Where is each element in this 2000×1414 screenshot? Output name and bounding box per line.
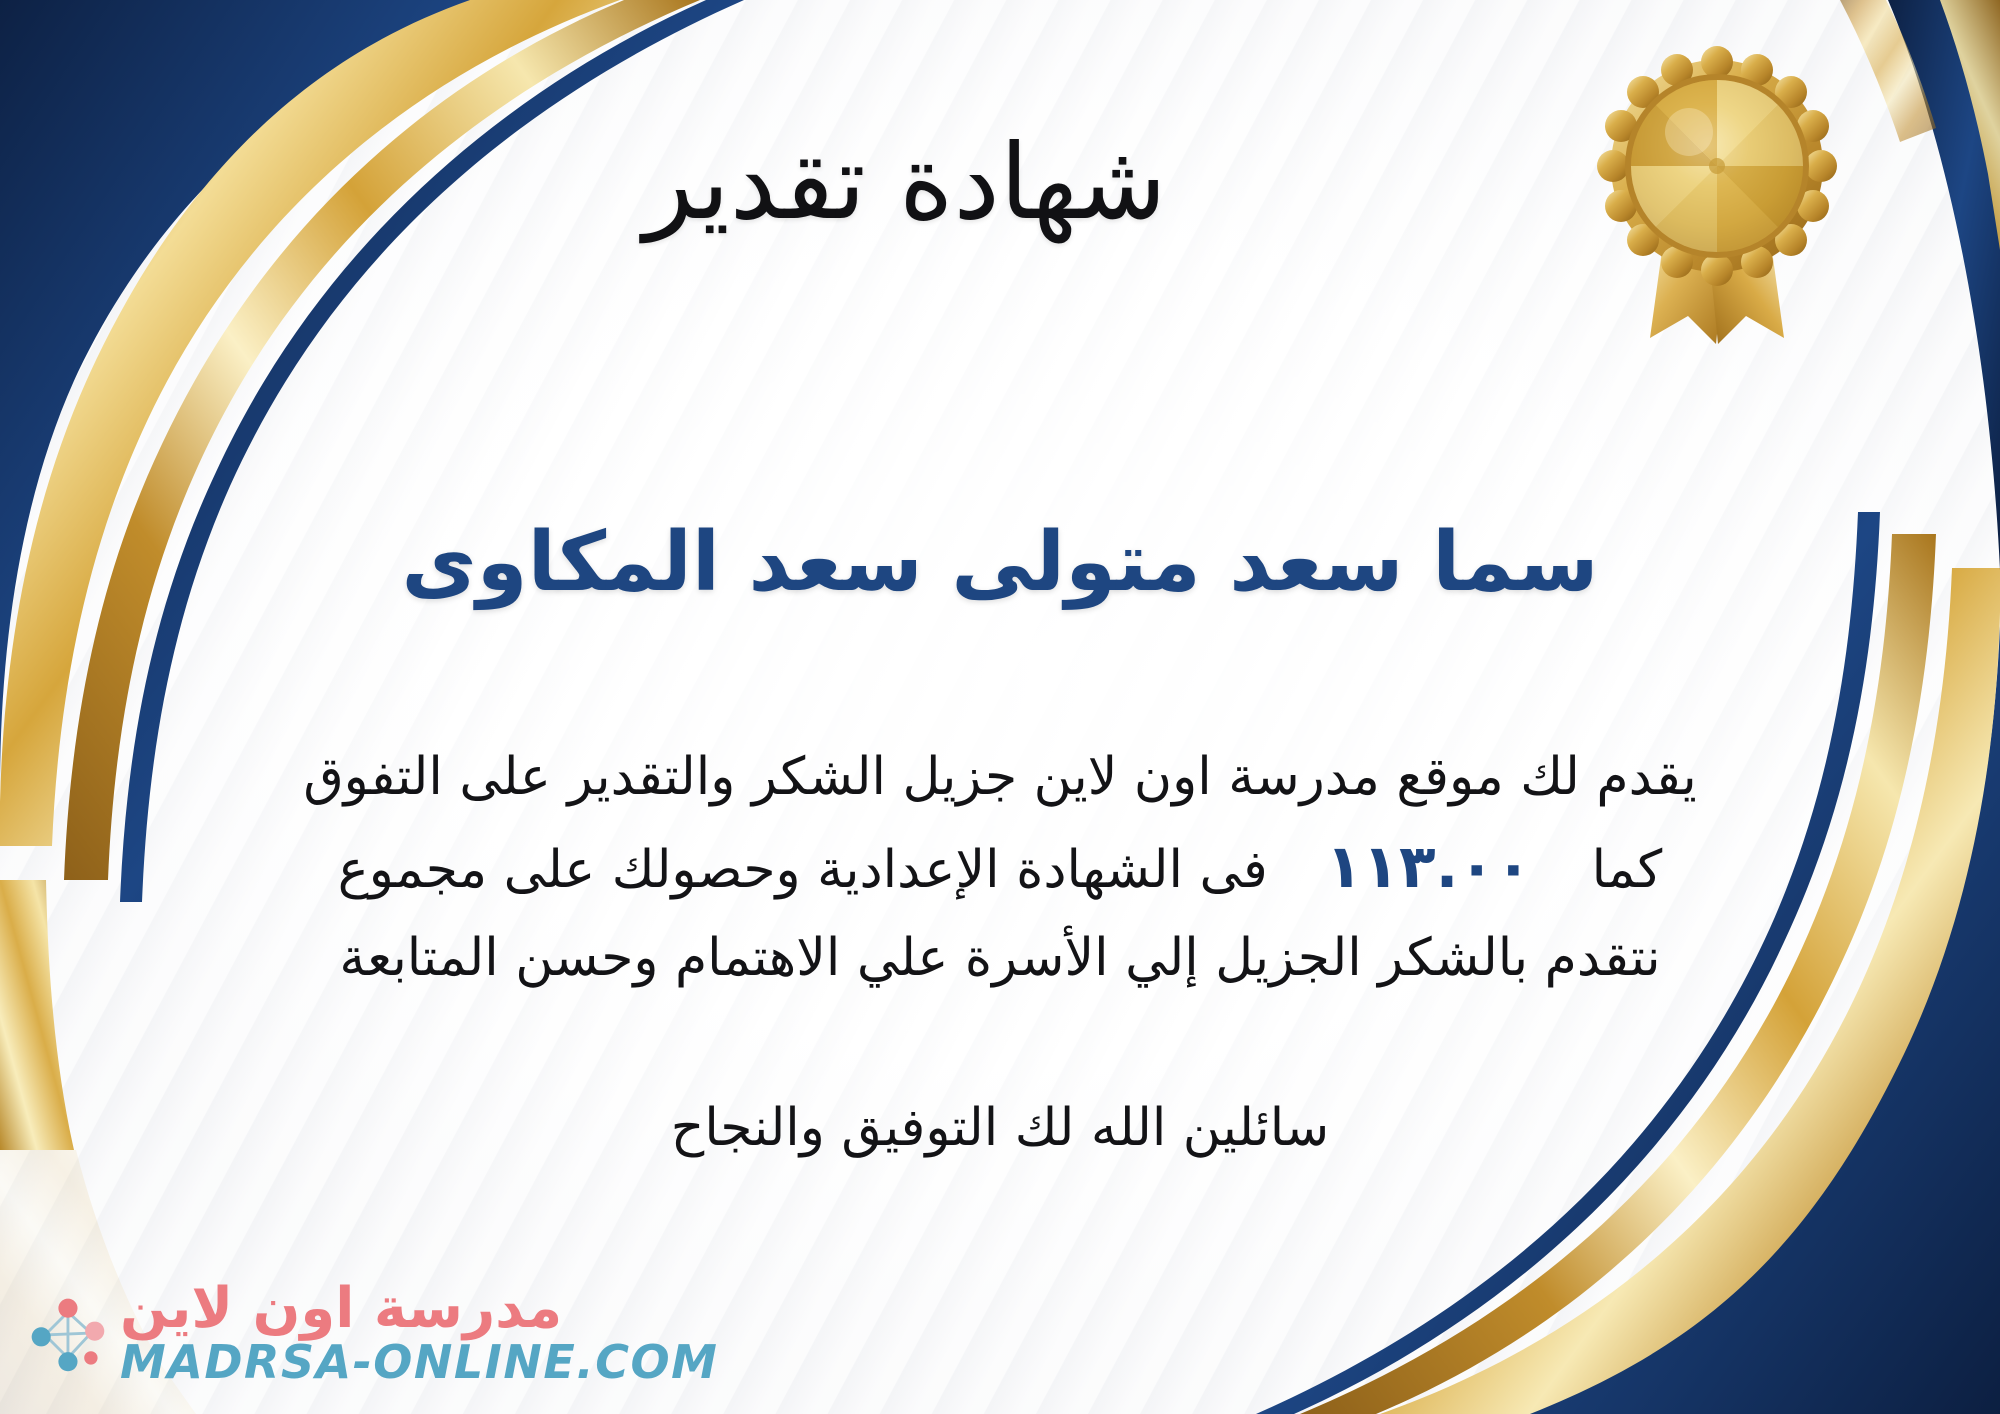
gold-medal-rosette-icon [1592, 38, 1842, 368]
body-line-2: كما ١١٣.٠٠ فى الشهادة الإعدادية وحصولك ع… [0, 819, 2000, 916]
certificate-canvas: شهادة تقدير سما سعد متولى سعد المكاوى يق… [0, 0, 2000, 1414]
body-line-3: نتقدم بالشكر الجزيل إلي الأسرة علي الاهت… [0, 916, 2000, 1000]
body-line-2-suffix: كما [1592, 828, 1663, 912]
network-nodes-icon [24, 1291, 110, 1377]
recipient-name: سما سعد متولى سعد المكاوى [0, 515, 2000, 610]
body-line-1: يقدم لك موقع مدرسة اون لاين جزيل الشكر و… [0, 735, 2000, 819]
body-line-2-prefix: فى الشهادة الإعدادية وحصولك على مجموع [338, 828, 1268, 912]
closing-line: سائلين الله لك التوفيق والنجاح [0, 1098, 2000, 1158]
grade-value: ١١٣.٠٠ [1326, 819, 1532, 916]
brand-website: MADRSA-ONLINE.COM [120, 1338, 718, 1388]
brand-name-arabic: مدرسة اون لاين [120, 1280, 562, 1339]
brand-text: مدرسة اون لاين MADRSA-ONLINE.COM [120, 1280, 718, 1388]
body-paragraph: يقدم لك موقع مدرسة اون لاين جزيل الشكر و… [0, 735, 2000, 1001]
brand-logo[interactable]: مدرسة اون لاين MADRSA-ONLINE.COM [24, 1280, 718, 1388]
